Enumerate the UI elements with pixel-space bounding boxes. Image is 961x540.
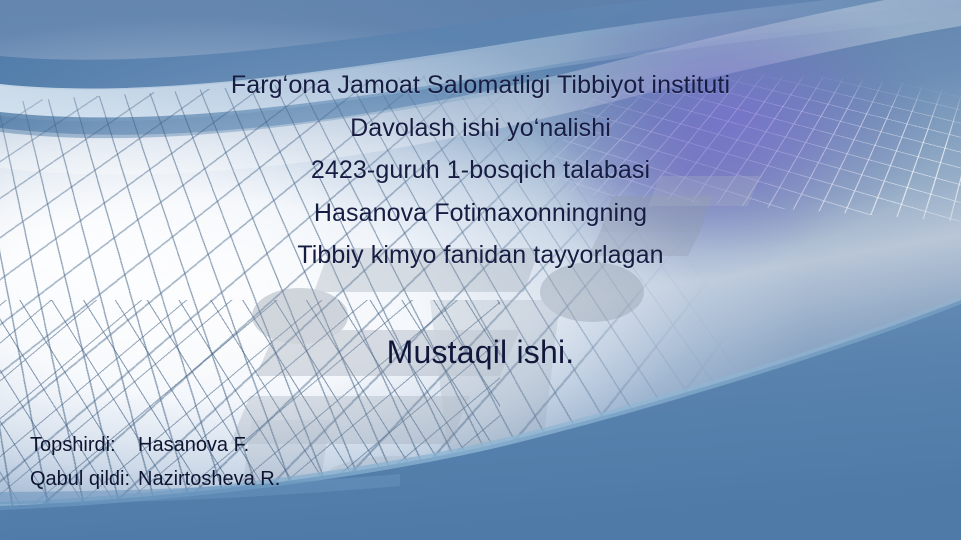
title-block: Farg‘ona Jamoat Salomatligi Tibbiyot ins…	[0, 64, 961, 277]
footer-label-accepted-by: Qabul qildi:	[30, 462, 138, 496]
title-line-1: Farg‘ona Jamoat Salomatligi Tibbiyot ins…	[0, 64, 961, 107]
title-line-2: Davolash ishi yo‘nalishi	[0, 107, 961, 150]
footer-row-submitted-by: Topshirdi:Hasanova F.	[30, 428, 280, 462]
footer-row-accepted-by: Qabul qildi:Nazirtosheva R.	[30, 462, 280, 496]
title-line-3: 2423-guruh 1-bosqich talabasi	[0, 149, 961, 192]
footer-value-accepted-by: Nazirtosheva R.	[138, 462, 280, 496]
footer-label-submitted-by: Topshirdi:	[30, 428, 138, 462]
slide-content: Farg‘ona Jamoat Salomatligi Tibbiyot ins…	[0, 0, 961, 540]
main-heading: Mustaqil ishi.	[0, 331, 961, 373]
title-line-5: Tibbiy kimyo fanidan tayyorlagan	[0, 234, 961, 277]
presentation-slide: Farg‘ona Jamoat Salomatligi Tibbiyot ins…	[0, 0, 961, 540]
title-line-4: Hasanova Fotimaxonningning	[0, 192, 961, 235]
footer-value-submitted-by: Hasanova F.	[138, 428, 249, 462]
footer-block: Topshirdi:Hasanova F. Qabul qildi:Nazirt…	[30, 428, 280, 496]
